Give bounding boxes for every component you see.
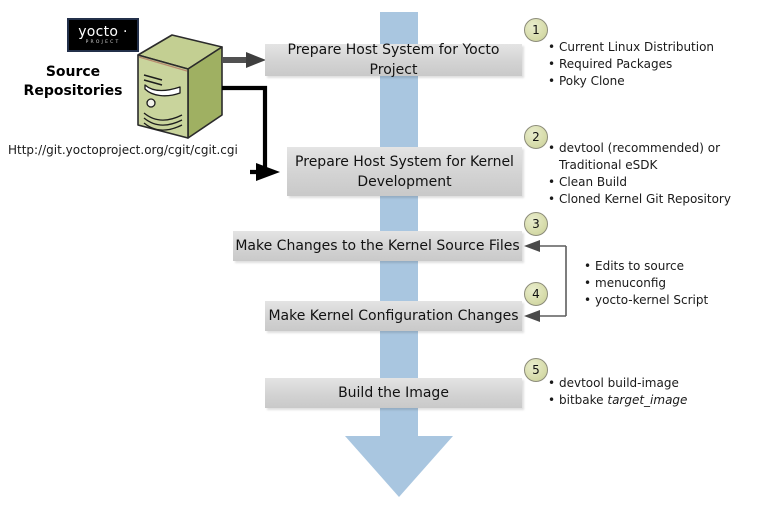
bracket-arrowhead-step3 <box>524 240 540 252</box>
yocto-kernel-development-flow-diagram: yocto · PROJECT Source Repositories Http… <box>0 0 769 517</box>
steps-3-4-bracket <box>0 0 769 517</box>
bracket-arrowhead-step4 <box>524 310 540 322</box>
